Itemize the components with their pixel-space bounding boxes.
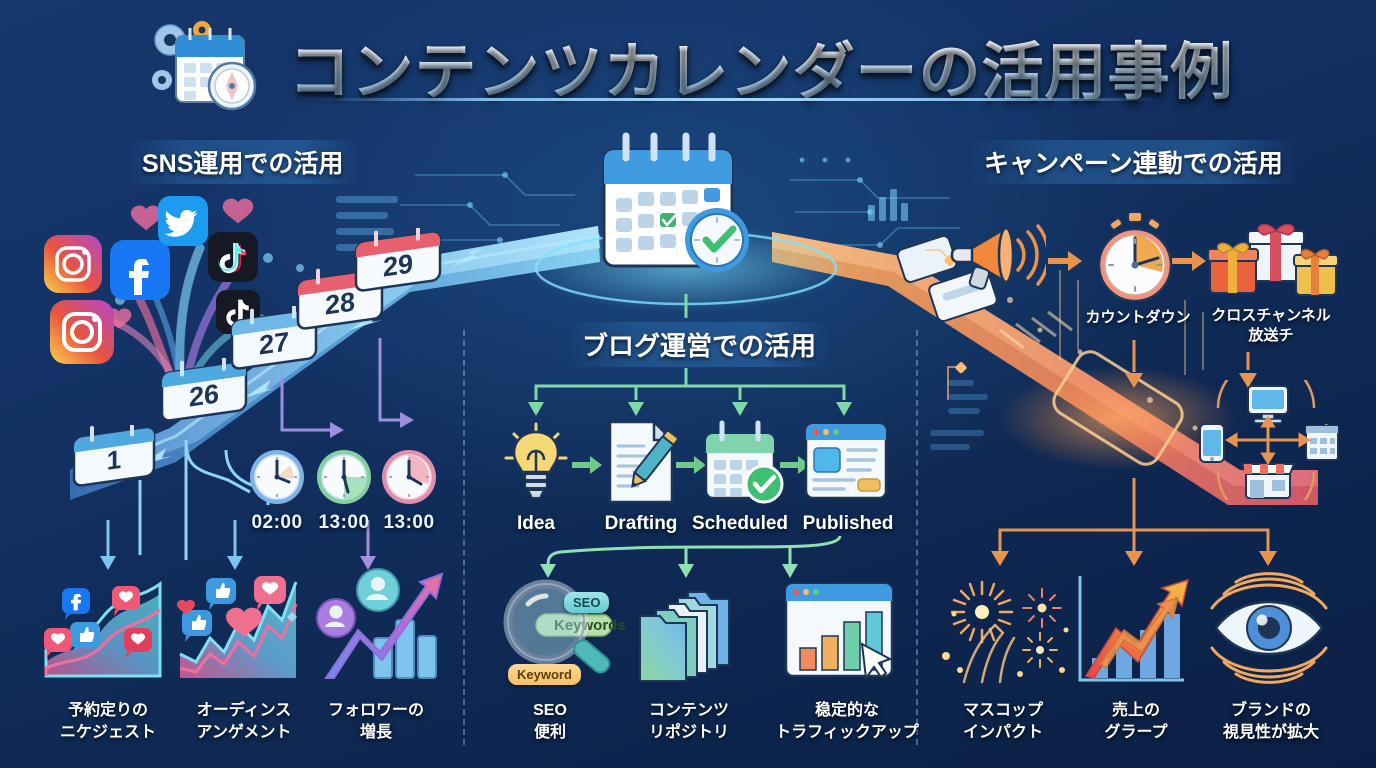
lightbulb-icon[interactable] [500, 420, 572, 507]
outcome-label: 稳定的な トラフィックアップ [762, 700, 932, 743]
section-heading-blog: ブログ運営での活用 [566, 322, 832, 367]
document-pen-icon[interactable] [600, 418, 680, 511]
svg-text:28: 28 [325, 286, 355, 321]
outcome-label: コンテンツ リポジトリ [624, 700, 754, 743]
section-divider-right [916, 330, 918, 745]
social-engagement-chart-icon[interactable] [40, 572, 180, 689]
page-header: コンテンツカレンダーの活用事例 [0, 12, 1376, 120]
outcome-label: SEO 便利 [498, 700, 602, 743]
blog-arrowheads [528, 402, 852, 416]
cross-channel-cluster[interactable] [1188, 380, 1344, 505]
schedule-clock-icon[interactable] [315, 448, 373, 511]
stopwatch-icon[interactable] [1090, 210, 1180, 311]
social-icon-instagram-1[interactable] [44, 235, 102, 298]
outcome-label: マスコップ インパクト [930, 700, 1076, 743]
sales-growth-chart-icon[interactable] [1070, 568, 1200, 693]
infographic-canvas: コンテンツカレンダーの活用事例 SNS運用での活用 キャンペーン連動での活用 ブ… [0, 0, 1376, 768]
published-browser-icon[interactable] [802, 420, 890, 509]
blog-outcome-connectors [548, 536, 840, 566]
clock-time-label: 13:00 [310, 512, 378, 534]
section-heading-campaign: キャンペーン連動での活用 [968, 140, 1299, 184]
svg-text:27: 27 [259, 326, 289, 361]
workflow-step-label: Published [786, 513, 910, 535]
social-icon-twitter[interactable] [158, 196, 208, 251]
campaign-step-label: カウントダウン [1078, 308, 1198, 328]
schedule-clock-icon[interactable] [248, 448, 306, 511]
clock-time-label: 13:00 [375, 512, 443, 534]
social-icon-instagram-2[interactable] [50, 300, 114, 369]
campaign-step-label: クロスチャンネル 放送チ [1196, 306, 1346, 345]
central-calendar-hub[interactable] [580, 122, 780, 297]
gift-boxes-icon[interactable] [1200, 205, 1340, 310]
likes-hearts-chart-icon[interactable] [170, 568, 318, 691]
eye-visibility-icon[interactable] [1198, 566, 1340, 695]
workflow-step-label: Idea [486, 513, 586, 535]
traffic-bar-chart-icon[interactable] [780, 578, 904, 691]
workflow-step-label: Scheduled [678, 513, 802, 535]
fireworks-icon[interactable] [930, 570, 1080, 693]
section-divider-left [463, 330, 465, 745]
badge-seo: SEO [564, 592, 609, 613]
follower-growth-arrow-icon[interactable] [308, 560, 448, 691]
outcome-label: ブランドの 視見性が拡大 [1186, 700, 1356, 743]
calendar-gears-compass-icon [142, 18, 272, 114]
outcome-label: フォロワーの 増長 [296, 700, 456, 743]
outcome-label: 売上の グラープ [1072, 700, 1200, 743]
calendar-check-icon[interactable] [700, 418, 786, 511]
title-underline [318, 98, 1158, 101]
folder-stack-icon[interactable] [632, 580, 744, 691]
svg-text:1: 1 [107, 444, 121, 476]
clock-time-label: 02:00 [243, 512, 311, 534]
calendar-day-tile[interactable]: 29 [352, 228, 448, 303]
megaphone-icon[interactable] [950, 218, 1046, 299]
badge-keyword: Keyword [508, 664, 581, 685]
social-icon-tiktok-1[interactable] [208, 232, 258, 287]
svg-text:26: 26 [189, 378, 219, 413]
calendar-day-tile[interactable]: 1 [70, 425, 162, 496]
schedule-clock-icon[interactable] [380, 448, 438, 511]
section-heading-sns: SNS運用での活用 [126, 140, 359, 184]
svg-text:29: 29 [383, 248, 413, 283]
